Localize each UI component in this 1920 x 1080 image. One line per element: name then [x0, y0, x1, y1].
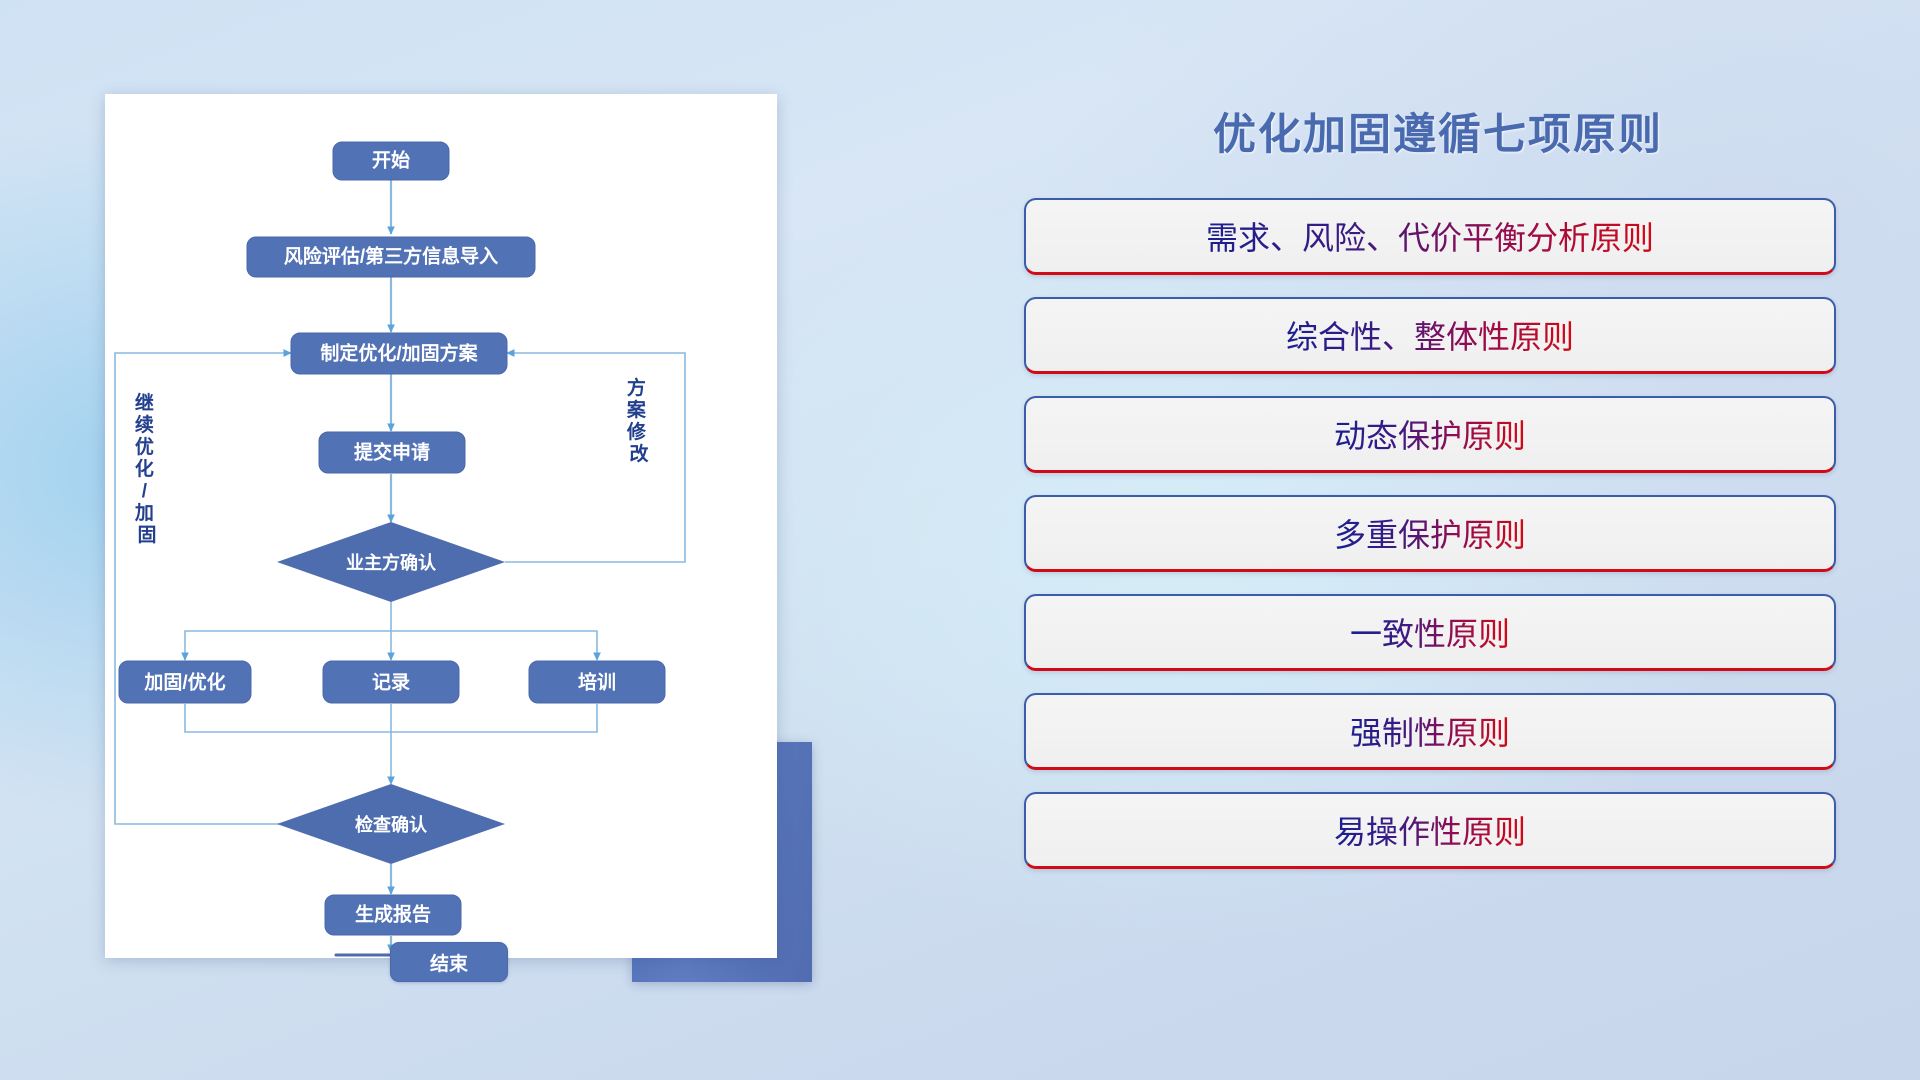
flow-node-training-label: 培训 — [578, 671, 616, 694]
flow-node-submit[interactable]: 提交申请 — [319, 432, 465, 473]
principle-card[interactable]: 综合性、整体性原则 — [1024, 297, 1836, 374]
flow-node-report-label: 生成报告 — [355, 903, 431, 926]
principle-card[interactable]: 易操作性原则 — [1024, 792, 1836, 869]
principle-card[interactable]: 一致性原则 — [1024, 594, 1836, 671]
principle-label: 动态保护原则 — [1334, 411, 1526, 457]
principle-card[interactable]: 动态保护原则 — [1024, 396, 1836, 473]
flow-node-start[interactable]: 开始 — [333, 142, 449, 180]
flow-node-reinforce[interactable]: 加固/优化 — [119, 661, 251, 703]
principle-label: 一致性原则 — [1350, 609, 1510, 655]
flow-node-owner-confirm[interactable]: 业主方确认 — [277, 522, 505, 602]
flow-node-report[interactable]: 生成报告 — [325, 895, 461, 935]
principle-card[interactable]: 强制性原则 — [1024, 693, 1836, 770]
flow-node-owner-confirm-label: 业主方确认 — [346, 552, 437, 573]
principles-card-list: 需求、风险、代价平衡分析原则 综合性、整体性原则 动态保护原则 多重保护原则 一… — [1020, 198, 1840, 869]
flow-node-check-confirm-label: 检查确认 — [355, 814, 428, 835]
flow-node-plan[interactable]: 制定优化/加固方案 — [291, 333, 507, 374]
flow-node-record-label: 记录 — [372, 672, 410, 694]
flow-node-reinforce-label: 加固/优化 — [143, 671, 225, 694]
slide-canvas: 开始 风险评估/第三方信息导入 制定优化/加固方案 提交申请 业主方确认 — [0, 0, 1920, 1080]
flow-label-continue-optimize: 继 续 优 化 / 加 固 — [134, 391, 159, 546]
principle-card[interactable]: 多重保护原则 — [1024, 495, 1836, 572]
flow-node-end-box[interactable]: 结束 — [390, 942, 508, 982]
edge-owner-to-training — [391, 631, 597, 660]
flow-node-training[interactable]: 培训 — [529, 661, 665, 703]
flow-node-risk-assessment-label: 风险评估/第三方信息导入 — [284, 245, 498, 268]
principle-label: 强制性原则 — [1350, 708, 1510, 754]
principles-panel: 优化加固遵循七项原则 需求、风险、代价平衡分析原则 综合性、整体性原则 动态保护… — [1020, 100, 1840, 1000]
flow-node-plan-label: 制定优化/加固方案 — [320, 342, 478, 365]
edge-owner-revise-loop — [505, 353, 685, 562]
principle-card[interactable]: 需求、风险、代价平衡分析原则 — [1024, 198, 1836, 275]
flow-node-check-confirm[interactable]: 检查确认 — [277, 784, 505, 864]
flow-node-end-label: 结束 — [430, 949, 468, 976]
panel-title: 优化加固遵循七项原则 — [1020, 100, 1840, 162]
principle-label: 需求、风险、代价平衡分析原则 — [1206, 213, 1654, 259]
flow-node-submit-label: 提交申请 — [354, 441, 430, 464]
principle-label: 综合性、整体性原则 — [1286, 312, 1574, 358]
principle-label: 多重保护原则 — [1334, 510, 1526, 556]
flowchart-card: 开始 风险评估/第三方信息导入 制定优化/加固方案 提交申请 业主方确认 — [105, 94, 777, 958]
flow-node-record[interactable]: 记录 — [323, 661, 459, 703]
flowchart-svg: 开始 风险评估/第三方信息导入 制定优化/加固方案 提交申请 业主方确认 — [105, 94, 777, 958]
principle-label: 易操作性原则 — [1334, 807, 1526, 853]
flow-node-risk-assessment[interactable]: 风险评估/第三方信息导入 — [247, 237, 535, 277]
flow-node-start-label: 开始 — [372, 149, 410, 172]
flow-label-plan-revision: 方 案 修 改 — [626, 376, 651, 465]
edge-owner-to-reinforce — [185, 631, 391, 660]
